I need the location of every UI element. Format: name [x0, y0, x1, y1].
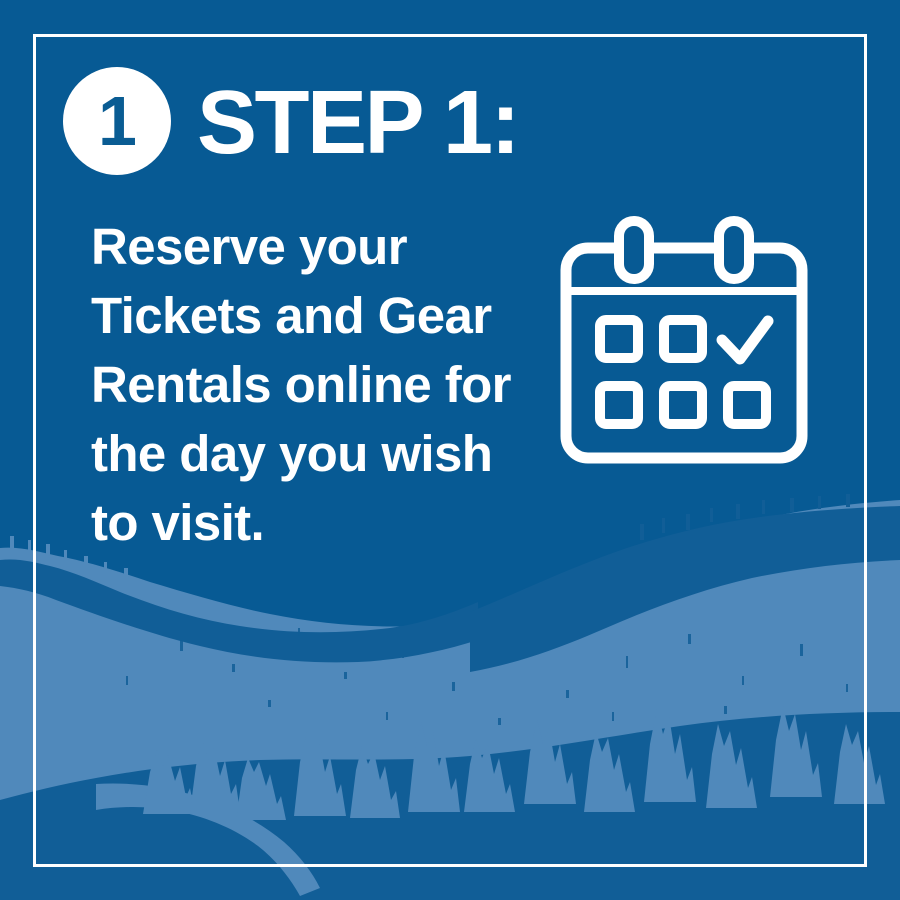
description-line-2: Tickets and Gear: [91, 281, 561, 350]
step-description: Reserve your Tickets and Gear Rentals on…: [91, 212, 561, 557]
page-title: STEP 1:: [197, 78, 518, 168]
step-number-badge: 1: [63, 67, 171, 175]
description-line-3: Rentals online for: [91, 350, 561, 419]
step-card: 1 STEP 1: Reserve your Tickets and Gear …: [0, 0, 900, 900]
description-line-1: Reserve your: [91, 212, 561, 281]
calendar-check-icon: [556, 216, 812, 466]
step-header: 1 STEP 1:: [63, 66, 518, 176]
description-line-4: the day you wish: [91, 419, 561, 488]
description-line-5: to visit.: [91, 488, 561, 557]
